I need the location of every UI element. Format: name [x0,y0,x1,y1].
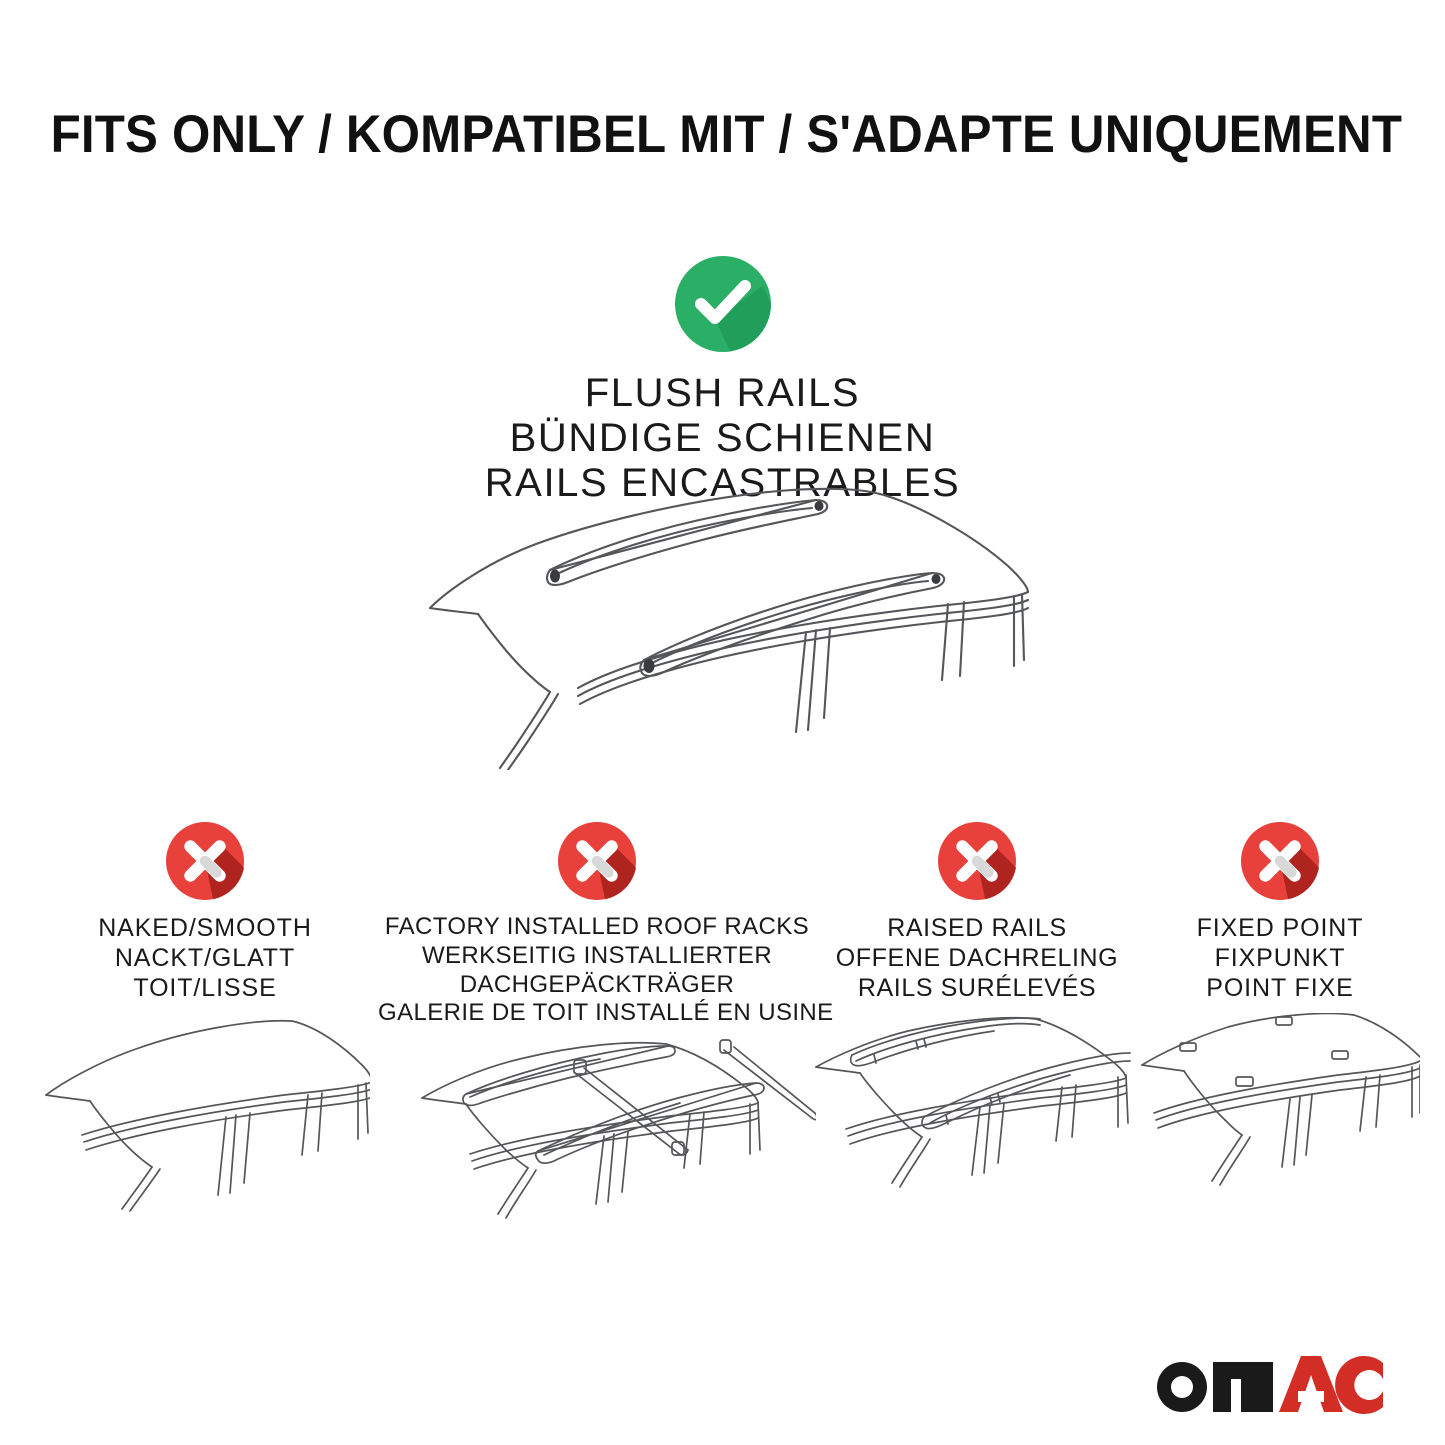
label-fr: TOIT/LISSE [40,973,370,1003]
label-de-1: WERKSEITIG INSTALLIERTER [378,942,816,971]
incompatible-item-factory-roof-racks: FACTORY INSTALLED ROOF RACKS WERKSEITIG … [378,822,816,1238]
incompatible-labels: FACTORY INSTALLED ROOF RACKS WERKSEITIG … [378,913,816,1028]
compatible-label-de: BÜNDIGE SCHIENEN [0,416,1445,461]
incompatible-labels: RAISED RAILS OFFENE DACHRELING RAILS SUR… [812,913,1142,1003]
cross-circle-icon [166,822,244,900]
logo-letter-a [1279,1356,1343,1412]
label-de: OFFENE DACHRELING [812,943,1142,973]
label-de: FIXPUNKT [1140,943,1420,973]
cross-circle-icon [1241,822,1319,900]
logo-letter-m [1213,1362,1273,1412]
incompatible-section: NAKED/SMOOTH NACKT/GLATT TOIT/LISSE [0,822,1445,1242]
label-de-2: DACHGEPÄCKTRÄGER [378,971,816,1000]
car-roof-fixed-point-illustration [1140,1013,1420,1213]
label-en: FACTORY INSTALLED ROOF RACKS [378,913,816,942]
cross-circle-icon [558,822,636,900]
incompatible-item-fixed-point: FIXED POINT FIXPUNKT POINT FIXE [1140,822,1420,1213]
label-en: RAISED RAILS [812,913,1142,943]
incompatible-item-raised-rails: RAISED RAILS OFFENE DACHRELING RAILS SUR… [812,822,1142,1213]
label-fr: POINT FIXE [1140,973,1420,1003]
omac-logo [1151,1351,1383,1417]
compatible-section: FLUSH RAILS BÜNDIGE SCHIENEN RAILS ENCAS… [0,256,1445,505]
label-en: FIXED POINT [1140,913,1420,943]
label-fr: RAILS SURÉLEVÉS [812,973,1142,1003]
label-en: NAKED/SMOOTH [40,913,370,943]
incompatible-labels: FIXED POINT FIXPUNKT POINT FIXE [1140,913,1420,1003]
car-roof-naked-smooth-illustration [40,1013,370,1213]
check-circle-icon [675,256,771,352]
label-fr: GALERIE DE TOIT INSTALLÉ EN USINE [378,999,816,1028]
compatible-label-en: FLUSH RAILS [0,371,1445,416]
car-roof-factory-racks-illustration [378,1038,816,1238]
logo-letter-o [1157,1362,1207,1412]
page-title: FITS ONLY / KOMPATIBEL MIT / S'ADAPTE UN… [51,104,1395,165]
cross-circle-icon [938,822,1016,900]
label-de: NACKT/GLATT [40,943,370,973]
logo-letter-c [1335,1356,1383,1414]
car-roof-raised-rails-illustration [812,1013,1142,1213]
incompatible-item-naked-smooth: NAKED/SMOOTH NACKT/GLATT TOIT/LISSE [40,822,370,1213]
incompatible-labels: NAKED/SMOOTH NACKT/GLATT TOIT/LISSE [40,913,370,1003]
car-roof-flush-rails-illustration [418,470,1038,770]
